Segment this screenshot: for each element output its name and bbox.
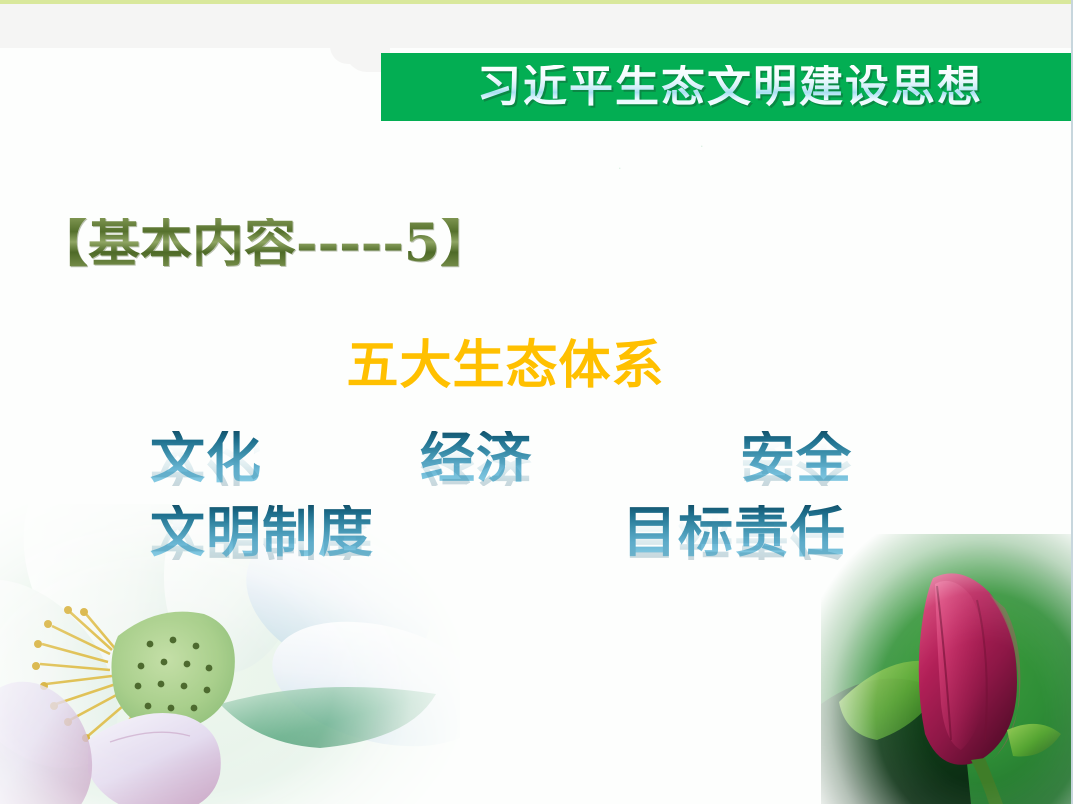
header-banner: 习近平生态文明建设思想	[381, 53, 1073, 121]
section-title: 【基本内容-----5】	[36, 218, 492, 270]
presentation-slide: 习近平生态文明建设思想 · · 【基本内容-----5】 五大生态体系 文化 经…	[0, 0, 1073, 804]
pillar-civilization-system: 文明制度	[150, 505, 374, 560]
top-gray-band	[0, 4, 1073, 48]
header-title: 习近平生态文明建设思想	[471, 65, 983, 109]
faint-mark-left: ·	[618, 162, 622, 175]
pillars-group: 文化 经济 安全 文明制度 目标责任	[0, 413, 1073, 593]
top-accent-line	[0, 0, 1073, 4]
headline-five-systems: 五大生态体系	[0, 340, 1071, 392]
faint-mark-right: ·	[700, 140, 704, 153]
pillar-target-responsibility: 目标责任	[622, 505, 846, 560]
pillar-culture: 文化	[150, 431, 262, 486]
pillar-economy: 经济	[420, 431, 532, 486]
pillar-safety: 安全	[740, 431, 852, 486]
